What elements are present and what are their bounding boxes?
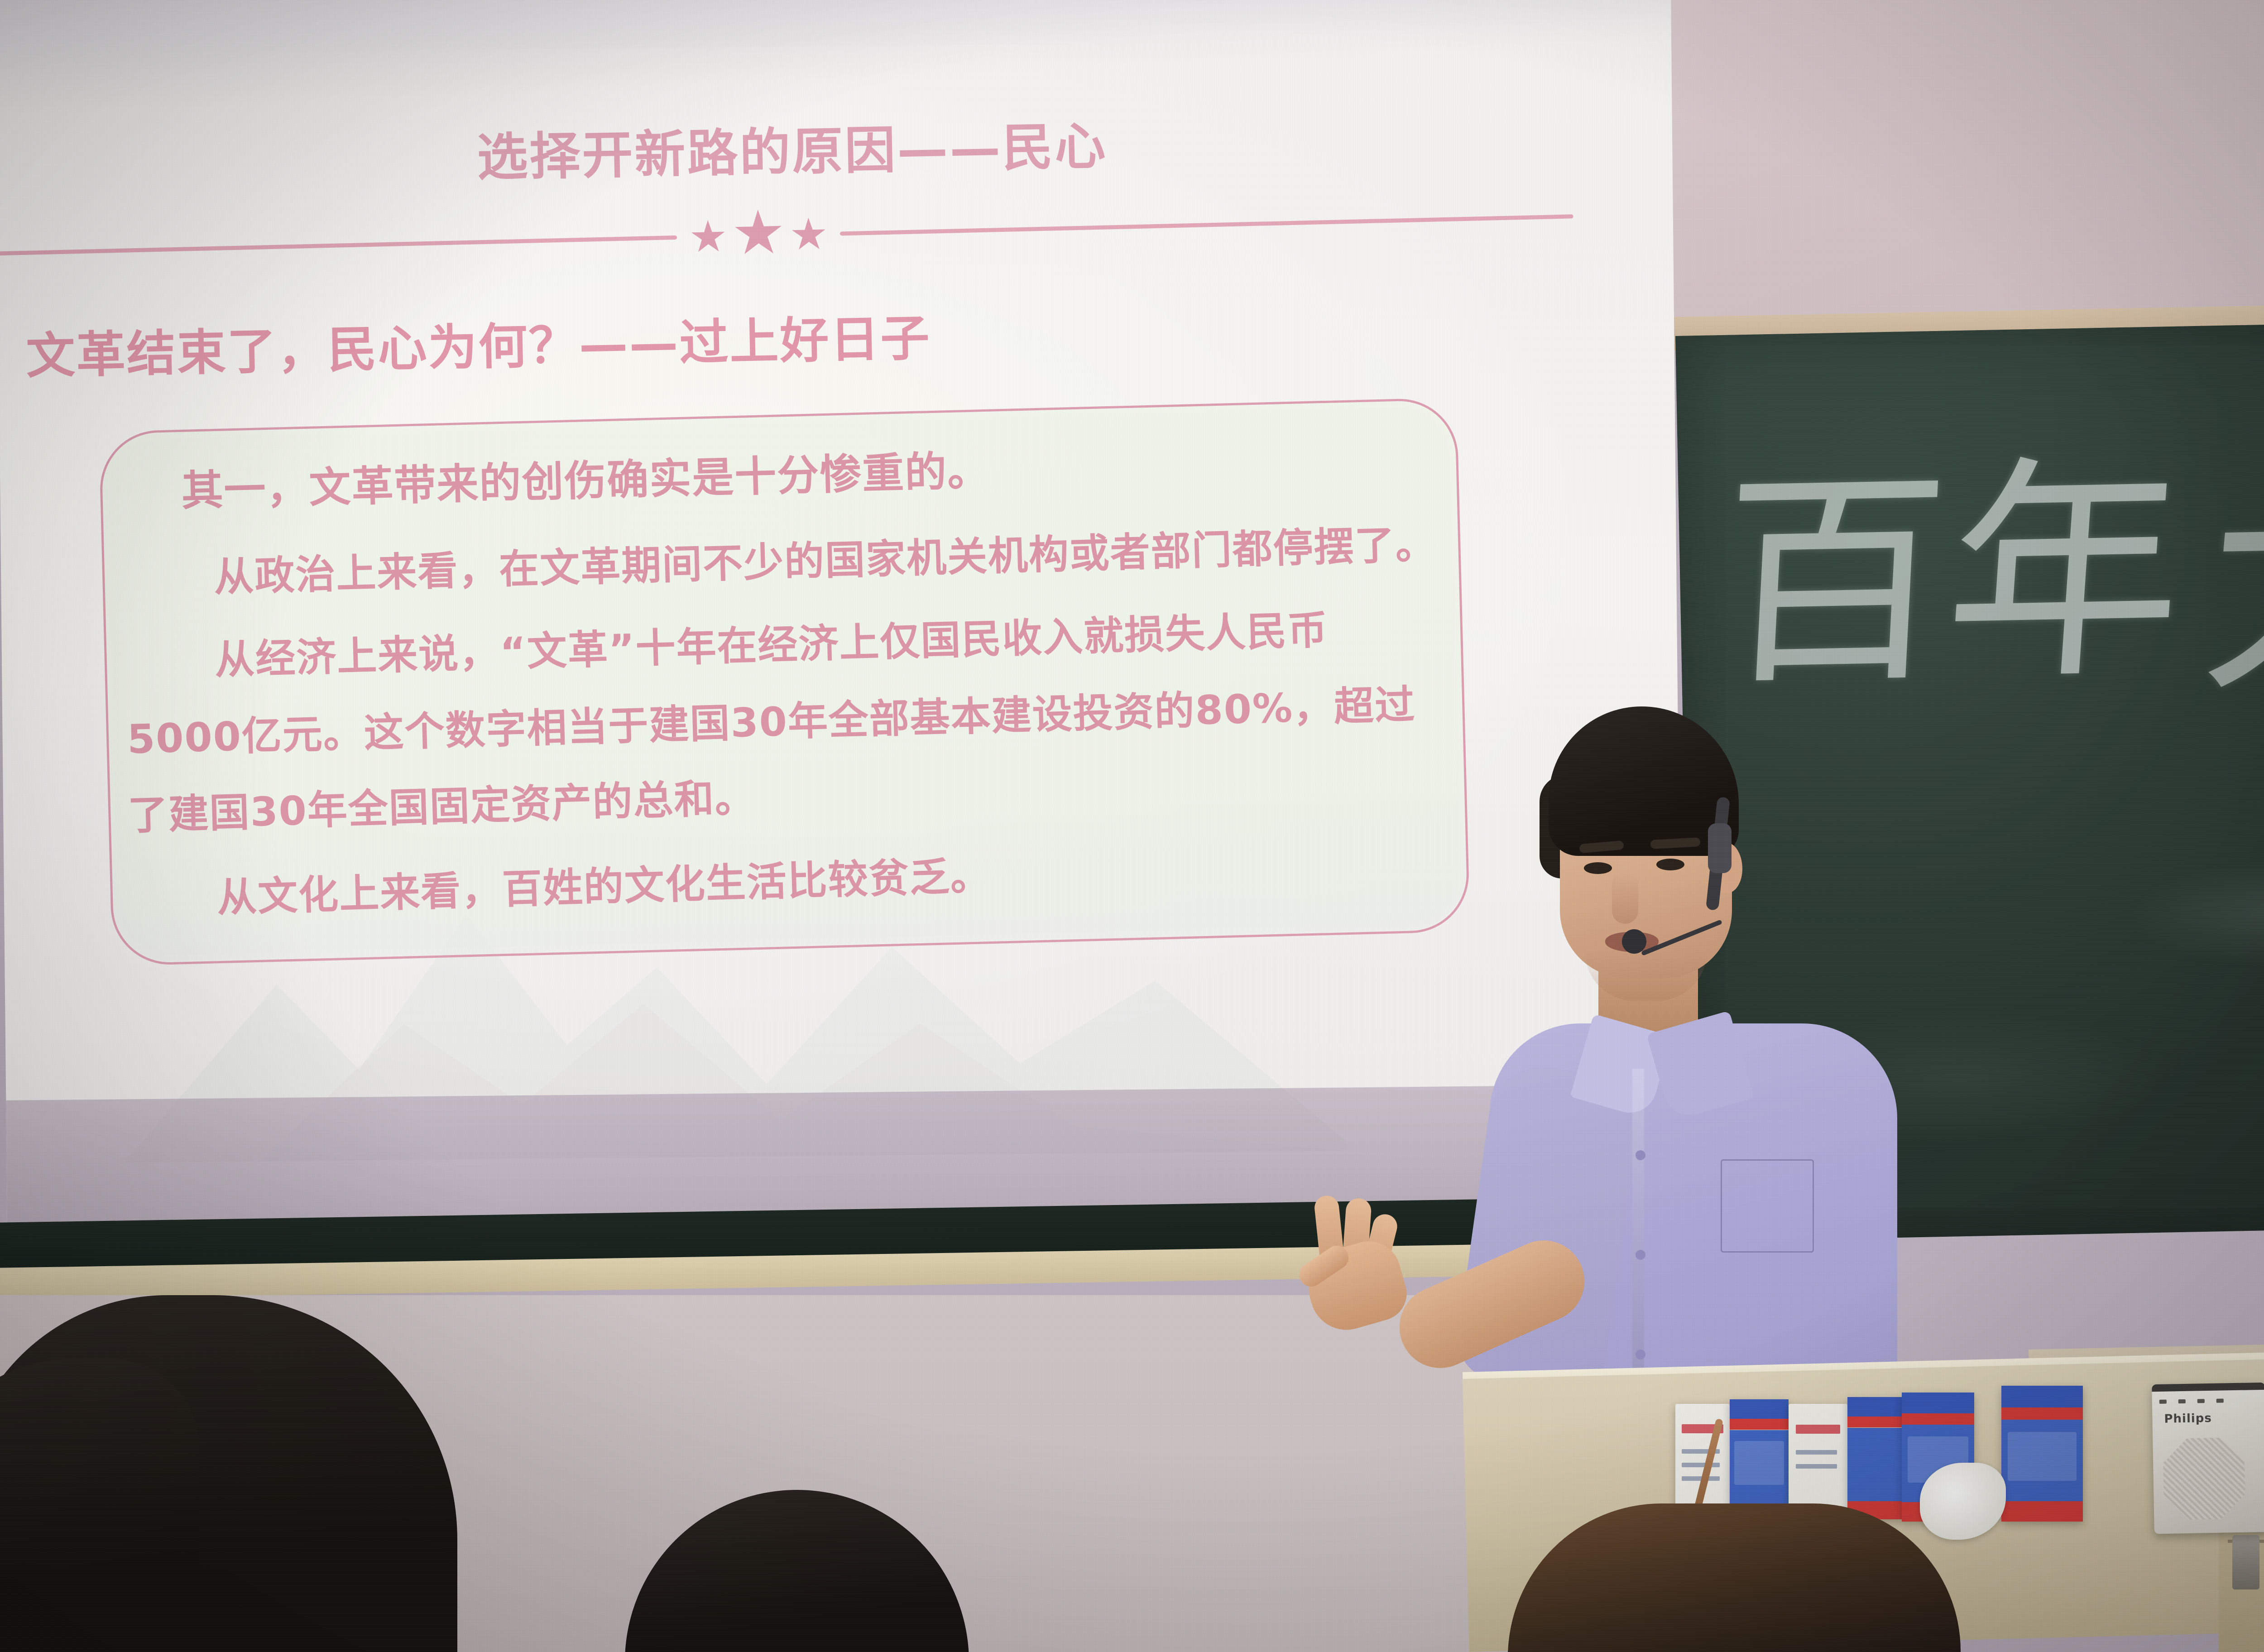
divider-line-right [840,214,1573,235]
box-line [1682,1463,1720,1467]
speaker-button[interactable] [2197,1399,2205,1403]
box-line [1796,1450,1837,1455]
right-wall [1648,0,2264,344]
box-body [1847,1428,1902,1501]
speaker-brand-label: Philips [2164,1412,2212,1426]
chalk-character-1: 百 [1715,466,1953,697]
star-group: ★ ★ ★ [676,203,840,267]
speaker-button[interactable] [2216,1398,2224,1402]
shirt-button [1636,1349,1645,1359]
box-stripe [2001,1386,2083,1407]
speaker-button[interactable] [2159,1400,2167,1404]
box-stripe-red [1847,1417,1902,1427]
box-line [1796,1464,1837,1469]
shirt-button [1636,1250,1645,1260]
box-stripe-red [1730,1419,1789,1430]
eye-left [1584,862,1612,874]
slide-title: 选择开新路的原因——民心 [476,105,1108,190]
nose [1612,873,1638,924]
shirt-button [1636,1150,1645,1160]
philips-speaker[interactable]: Philips [2152,1383,2264,1534]
eye-right [1656,859,1684,870]
microphone-capsule-icon [1622,929,1646,954]
classroom-scene: 百 年 大 选择开新路的原因——民心 ★ ★ ★ [0,0,2264,1652]
shirt-pocket [1721,1159,1814,1253]
palm [1299,1234,1413,1339]
chalk-character-2: 年 [1939,453,2191,693]
star-icon-center: ★ [730,202,786,264]
presentation-slide: 选择开新路的原因——民心 ★ ★ ★ 文革结束了，民心为何？——过上好日子 其一… [0,0,1683,1236]
chalk-smudge [2129,856,2264,970]
star-icon-left: ★ [688,214,728,259]
headset-earpiece-icon [1708,823,1732,873]
name-card-box[interactable] [1789,1404,1847,1519]
box-stripe-red [1902,1413,1974,1425]
student-head-foreground-far-left [0,1359,199,1652]
name-card-box[interactable] [1847,1397,1902,1519]
box-foot [2001,1501,2083,1522]
box-stripe [1902,1393,1974,1413]
projection-screen: 选择开新路的原因——民心 ★ ★ ★ 文革结束了，民心为何？——过上好日子 其一… [0,0,1683,1236]
drawer-handle[interactable] [2232,1535,2259,1590]
box-stripe-red [2001,1407,2083,1420]
box-label [2008,1432,2076,1481]
teacher-right-hand [1281,1196,1417,1331]
star-icon-right: ★ [789,212,829,256]
box-stripe [1847,1397,1902,1417]
divider-line-left [0,235,677,255]
box-label [1734,1441,1784,1485]
name-card-box[interactable] [2001,1386,2083,1522]
box-stripe [1730,1399,1789,1419]
speaker-top-edge [2152,1383,2264,1392]
speaker-button-row[interactable] [2159,1398,2224,1403]
speaker-grille-icon [2163,1437,2245,1520]
speaker-button[interactable] [2178,1399,2186,1403]
box-title-text [1796,1425,1841,1434]
